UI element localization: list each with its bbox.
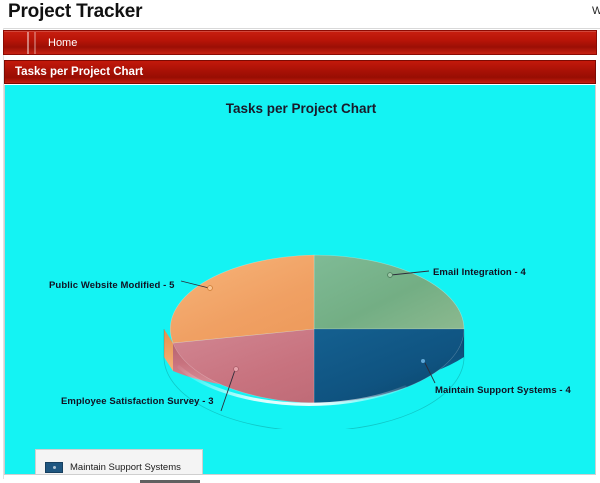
pie-chart-graphic bbox=[13, 129, 589, 429]
chart-legend: Maintain Support Systems Employee Satisf… bbox=[35, 449, 203, 475]
chart-panel-header: Tasks per Project Chart bbox=[4, 60, 596, 84]
pie-label-maintain-support-systems: Maintain Support Systems - 4 bbox=[435, 385, 571, 396]
legend-item-maintain-support-systems[interactable]: Maintain Support Systems bbox=[36, 455, 202, 475]
welcome-text: W bbox=[592, 5, 600, 17]
page-root: Project Tracker W Home Tasks per Project… bbox=[0, 0, 600, 483]
chart-title: Tasks per Project Chart bbox=[13, 101, 589, 116]
page-title: Project Tracker bbox=[8, 1, 142, 23]
nav-item-home[interactable]: Home bbox=[38, 31, 87, 55]
nav-divider-left bbox=[27, 32, 29, 55]
pie-slice-public-website-modified[interactable] bbox=[170, 255, 314, 343]
bottom-strip bbox=[0, 479, 600, 483]
pie-chart-area: Tasks per Project Chart bbox=[13, 89, 589, 471]
pie-label-public-website-modified: Public Website Modified - 5 bbox=[49, 280, 175, 291]
app-header: Project Tracker W bbox=[0, 0, 600, 29]
pie-label-employee-satisfaction-survey: Employee Satisfaction Survey - 3 bbox=[61, 396, 214, 407]
chart-panel-body: Tasks per Project Chart bbox=[4, 85, 596, 475]
chart-panel: Tasks per Project Chart Tasks per Projec… bbox=[4, 60, 596, 478]
legend-swatch-maintain-support-systems bbox=[45, 462, 63, 473]
chart-panel-title: Tasks per Project Chart bbox=[15, 61, 143, 84]
nav-divider-right bbox=[34, 32, 36, 55]
main-navigation-bar: Home bbox=[3, 30, 597, 55]
pie-label-email-integration: Email Integration - 4 bbox=[433, 267, 526, 278]
legend-label-maintain-support-systems: Maintain Support Systems bbox=[70, 462, 181, 473]
